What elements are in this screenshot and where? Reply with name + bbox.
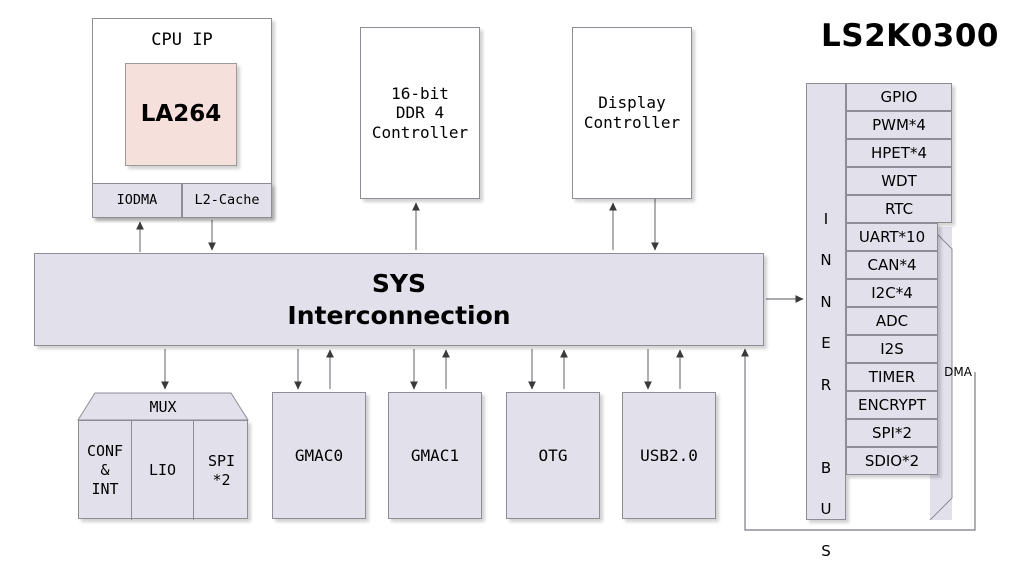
- l2-cache-block: L2-Cache: [182, 183, 272, 218]
- peripheral-pwm-4: PWM*4: [846, 111, 952, 139]
- usb2-block: USB2.0: [622, 392, 716, 519]
- peripheral-wdt: WDT: [846, 167, 952, 195]
- iodma-block: IODMA: [92, 183, 182, 218]
- peripheral-uart-10: UART*10: [846, 223, 938, 251]
- page-title: LS2K0300: [800, 18, 1020, 54]
- mux-cell-conf-int: CONF & INT: [79, 421, 131, 520]
- inner-bus-char: N: [807, 249, 845, 271]
- otg-block: OTG: [506, 392, 600, 519]
- inner-bus-char: E: [807, 332, 845, 354]
- peripheral-i2s: I2S: [846, 335, 938, 363]
- peripheral-adc: ADC: [846, 307, 938, 335]
- gmac0-block: GMAC0: [272, 392, 366, 519]
- inner-bus-block: I N N E R B U S: [806, 83, 846, 520]
- sys-interconnection-bar: SYS Interconnection: [34, 253, 764, 346]
- mux-header-label: MUX: [78, 393, 248, 420]
- inner-bus-char: S: [807, 540, 845, 562]
- peripheral-spi-2: SPI*2: [846, 419, 938, 447]
- display-controller-block: Display Controller: [572, 27, 692, 199]
- inner-bus-char: U: [807, 498, 845, 520]
- la264-core-block: LA264: [125, 63, 237, 166]
- dma-label: DMA: [938, 365, 978, 381]
- peripheral-i2c-4: I2C*4: [846, 279, 938, 307]
- peripheral-encrypt: ENCRYPT: [846, 391, 938, 419]
- peripheral-sdio-2: SDIO*2: [846, 447, 938, 475]
- inner-bus-char: N: [807, 291, 845, 313]
- mux-body-block: CONF & INT LIO SPI *2: [78, 420, 248, 519]
- mux-cell-spi: SPI *2: [193, 421, 249, 520]
- peripheral-can-4: CAN*4: [846, 251, 938, 279]
- peripheral-hpet-4: HPET*4: [846, 139, 952, 167]
- inner-bus-char: [807, 415, 845, 437]
- peripheral-rtc: RTC: [846, 195, 952, 223]
- inner-bus-char: I: [807, 208, 845, 230]
- mux-cell-lio: LIO: [131, 421, 193, 520]
- gmac1-block: GMAC1: [388, 392, 482, 519]
- inner-bus-char: B: [807, 457, 845, 479]
- peripheral-timer: TIMER: [846, 363, 938, 391]
- ddr4-controller-block: 16-bit DDR 4 Controller: [360, 27, 480, 199]
- inner-bus-char: R: [807, 374, 845, 396]
- peripheral-gpio: GPIO: [846, 83, 952, 111]
